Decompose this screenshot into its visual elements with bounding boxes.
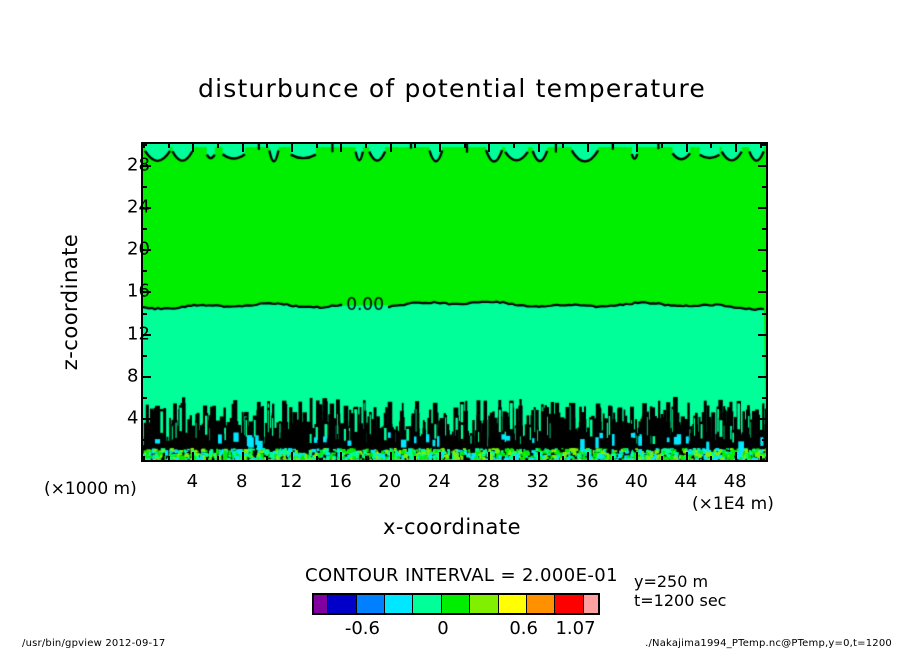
y-tick-minor-right xyxy=(762,228,767,230)
x-tick-minor xyxy=(513,456,515,461)
x-tick-major xyxy=(439,452,441,461)
x-tick-minor-top xyxy=(513,143,515,148)
y-tick-minor-right xyxy=(762,439,767,441)
x-tick-major xyxy=(488,452,490,461)
x-tick-minor-top xyxy=(217,143,219,148)
y-tick-minor xyxy=(142,228,147,230)
y-tick-minor xyxy=(142,186,147,188)
x-tick-major-top xyxy=(439,143,441,152)
x-tick-minor xyxy=(612,456,614,461)
x-tick-minor xyxy=(168,456,170,461)
y-tick-minor-right xyxy=(762,270,767,272)
footer-data-source: ./Nakajima1994_PTemp.nc@PTemp,y=0,t=1200 xyxy=(645,638,892,649)
x-tick-minor-top xyxy=(612,143,614,148)
x-tick-label: 20 xyxy=(378,471,401,492)
y-tick-major xyxy=(142,376,151,378)
x-tick-major-top xyxy=(686,143,688,152)
footer-command-path: /usr/bin/gpview 2012-09-17 xyxy=(22,638,165,649)
x-tick-major-top xyxy=(636,143,638,152)
colorbar-tick-labels: -0.600.61.07 xyxy=(312,618,600,638)
y-tick-major-right xyxy=(758,334,767,336)
x-tick-minor-top xyxy=(168,143,170,148)
y-tick-major-right xyxy=(758,418,767,420)
colorbar-swatch-9 xyxy=(555,595,583,613)
y-tick-major-right xyxy=(758,291,767,293)
x-tick-label: 4 xyxy=(187,471,198,492)
x-tick-minor-top xyxy=(661,143,663,148)
colorbar[interactable] xyxy=(312,593,600,615)
x-tick-minor-top xyxy=(266,143,268,148)
x-tick-minor-top xyxy=(365,143,367,148)
contour-plot-area[interactable] xyxy=(141,142,768,462)
x-tick-minor xyxy=(365,456,367,461)
y-tick-minor-right xyxy=(762,313,767,315)
x-tick-major xyxy=(587,452,589,461)
page-title: disturbunce of potential temperature xyxy=(0,74,904,103)
x-tick-minor xyxy=(562,456,564,461)
colorbar-swatch-6 xyxy=(470,595,498,613)
x-tick-label: 28 xyxy=(477,471,500,492)
colorbar-swatch-7 xyxy=(499,595,527,613)
x-tick-major-top xyxy=(192,143,194,152)
x-tick-label: 16 xyxy=(329,471,352,492)
y-axis-unit-label: (×1000 m) xyxy=(44,479,137,499)
colorbar-label-0: -0.6 xyxy=(345,618,380,639)
annotation-y-value: y=250 m xyxy=(634,572,726,591)
x-axis-title: x-coordinate xyxy=(0,515,904,539)
colorbar-swatch-10 xyxy=(584,595,598,613)
plot-annotations: y=250 m t=1200 sec xyxy=(634,572,726,610)
colorbar-label-3: 1.07 xyxy=(555,618,595,639)
colorbar-swatch-3 xyxy=(385,595,413,613)
x-axis-unit-label: (×1E4 m) xyxy=(692,494,774,514)
colorbar-label-2: 0.6 xyxy=(509,618,538,639)
x-tick-major xyxy=(538,452,540,461)
x-tick-minor-top xyxy=(414,143,416,148)
x-tick-minor xyxy=(217,456,219,461)
x-tick-minor-top xyxy=(760,143,762,148)
y-tick-minor xyxy=(142,270,147,272)
x-tick-major xyxy=(390,452,392,461)
x-tick-label: 36 xyxy=(576,471,599,492)
x-tick-label: 12 xyxy=(280,471,303,492)
contour-interval-caption: CONTOUR INTERVAL = 2.000E-01 xyxy=(305,565,605,586)
colorbar-swatch-0 xyxy=(314,595,328,613)
x-tick-major xyxy=(242,452,244,461)
x-tick-minor xyxy=(143,456,145,461)
x-tick-major xyxy=(735,452,737,461)
x-tick-major xyxy=(686,452,688,461)
y-tick-major xyxy=(142,418,151,420)
x-tick-minor-top xyxy=(143,143,145,148)
x-tick-minor xyxy=(464,456,466,461)
x-tick-major-top xyxy=(390,143,392,152)
x-tick-major xyxy=(192,452,194,461)
y-tick-minor-right xyxy=(762,144,767,146)
y-tick-major-right xyxy=(758,376,767,378)
y-tick-minor-right xyxy=(762,397,767,399)
x-tick-label: 8 xyxy=(236,471,247,492)
x-tick-label: 48 xyxy=(724,471,747,492)
colorbar-swatch-8 xyxy=(527,595,555,613)
x-tick-label: 40 xyxy=(625,471,648,492)
x-tick-major-top xyxy=(340,143,342,152)
y-tick-minor xyxy=(142,313,147,315)
x-tick-major-top xyxy=(291,143,293,152)
colorbar-swatch-2 xyxy=(357,595,385,613)
y-tick-minor xyxy=(142,355,147,357)
x-tick-minor xyxy=(661,456,663,461)
colorbar-swatch-4 xyxy=(413,595,441,613)
x-tick-major xyxy=(340,452,342,461)
colorbar-label-1: 0 xyxy=(437,618,448,639)
x-tick-minor-top xyxy=(562,143,564,148)
x-tick-minor-top xyxy=(464,143,466,148)
y-tick-major-right xyxy=(758,165,767,167)
x-tick-major-top xyxy=(735,143,737,152)
y-tick-major-right xyxy=(758,249,767,251)
colorbar-swatch-1 xyxy=(328,595,356,613)
x-tick-major xyxy=(291,452,293,461)
colorbar-swatch-5 xyxy=(442,595,470,613)
x-tick-minor xyxy=(414,456,416,461)
y-tick-major-right xyxy=(758,207,767,209)
x-tick-major-top xyxy=(242,143,244,152)
x-tick-minor xyxy=(760,456,762,461)
x-tick-label: 24 xyxy=(428,471,451,492)
y-tick-minor xyxy=(142,397,147,399)
contour-field-canvas xyxy=(143,144,766,460)
x-tick-minor xyxy=(266,456,268,461)
y-tick-minor-right xyxy=(762,355,767,357)
y-tick-minor xyxy=(142,439,147,441)
y-axis-title: z-coordinate xyxy=(58,234,82,371)
y-tick-minor-right xyxy=(762,460,767,462)
x-tick-major-top xyxy=(538,143,540,152)
x-tick-major-top xyxy=(488,143,490,152)
x-tick-minor-top xyxy=(316,143,318,148)
x-tick-minor-top xyxy=(710,143,712,148)
x-tick-label: 44 xyxy=(674,471,697,492)
annotation-t-value: t=1200 sec xyxy=(634,591,726,610)
x-tick-minor xyxy=(316,456,318,461)
x-tick-major-top xyxy=(587,143,589,152)
x-tick-minor xyxy=(710,456,712,461)
y-tick-minor-right xyxy=(762,186,767,188)
x-tick-label: 32 xyxy=(526,471,549,492)
y-tick-minor xyxy=(142,460,147,462)
x-tick-major xyxy=(636,452,638,461)
